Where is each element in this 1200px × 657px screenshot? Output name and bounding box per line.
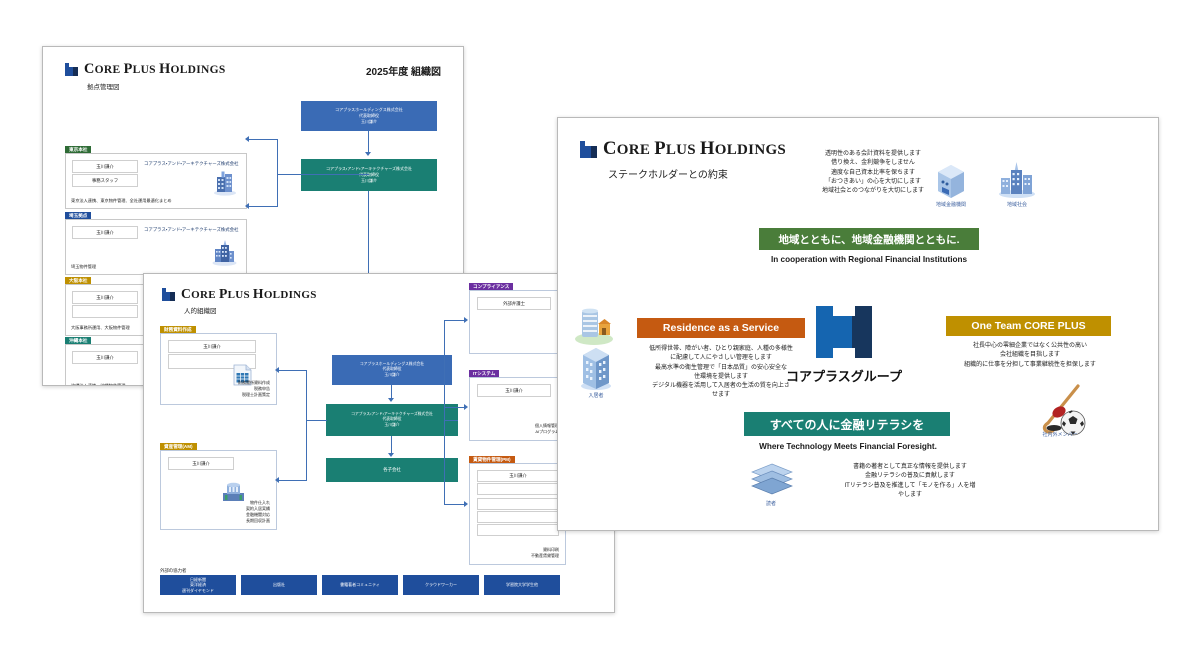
- unit-cell: [477, 511, 559, 523]
- connector-arrow: [464, 404, 468, 410]
- logo-lockup: CORE PLUS HOLDINGS: [580, 138, 786, 160]
- promise-line: せます: [616, 391, 826, 400]
- back-slide-header: CORE PLUS HOLDINGS 拠点管理図: [65, 61, 226, 91]
- partner-label: 出版社: [273, 582, 285, 587]
- unit-box-financial-docs[interactable]: 玉川謙介 財務関係資料作成 税務申告 税理士計画策定: [160, 333, 277, 405]
- mid-slide-header: CORE PLUS HOLDINGS 人的組織図: [162, 286, 317, 315]
- apartment-complex-icon: [572, 305, 616, 347]
- connector-arrow: [388, 398, 394, 402]
- unit-box-property-management[interactable]: 玉川謙介 資料印刷 不動産賃貸管理: [469, 463, 566, 565]
- connector-horizontal: [444, 420, 458, 421]
- cityscape-icon: [996, 160, 1038, 198]
- node-line: 玉川謙介: [361, 178, 377, 184]
- site-cell: 玉川謙介: [72, 226, 138, 239]
- connector-vertical: [444, 320, 445, 420]
- site-footer-note: 東京法人連携、東京物件管理、全社運用最適化まとめ: [71, 198, 172, 204]
- connector-horizontal: [444, 407, 465, 408]
- promise-line: 透明性のある会計資料を提供します: [758, 150, 988, 159]
- partner-label: 日経新聞 東洋経済 週刊ダイヤモンド: [182, 577, 214, 593]
- resident-icon-caption: 入居者: [574, 392, 618, 399]
- node-holdings[interactable]: コアプラスホールディングス株式会社 代表取締役 玉川謙介: [332, 355, 452, 385]
- readers-caption: 読者: [748, 500, 794, 507]
- connector-arrow: [365, 152, 371, 156]
- cityscape-icon-caption: 地域社会: [992, 201, 1042, 208]
- core-plus-logo-icon: [580, 141, 597, 158]
- site-footer-note: 大阪事務所運用、大阪物件管理: [71, 325, 130, 331]
- banner-financial-literacy[interactable]: すべての人に金融リテラシを: [744, 412, 950, 436]
- front-slide-header: CORE PLUS HOLDINGS ステークホルダーとの約束: [580, 138, 786, 181]
- core-plus-logo-icon: [65, 63, 78, 76]
- connector-horizontal: [249, 206, 278, 207]
- external-partners-label: 外部の協力者: [160, 568, 186, 574]
- books-stack-icon: [750, 462, 794, 498]
- unit-notes: 資料印刷 不動産賃貸管理: [531, 547, 559, 559]
- promise-line: 会社組織を目指します: [930, 351, 1130, 360]
- connector-horizontal: [444, 504, 465, 505]
- external-partner-chip[interactable]: 書籍著者コミュニティ: [322, 575, 398, 595]
- slides-stage: CORE PLUS HOLDINGS 拠点管理図 2025年度 組織図 東京本社…: [0, 0, 1200, 657]
- unit-note-line: AIプログラム: [535, 429, 559, 435]
- group-name: コアプラスグループ: [786, 366, 902, 385]
- connector-vertical: [306, 370, 307, 481]
- logo-lockup: CORE PLUS HOLDINGS: [65, 61, 226, 78]
- unit-cell: [477, 524, 559, 536]
- partner-label: 学習院大学学生他: [506, 582, 538, 587]
- external-partners-row: 日経新聞 東洋経済 週刊ダイヤモンド 出版社 書籍著者コミュニティ クラウドワー…: [160, 575, 560, 595]
- unit-cell: 玉川謙介: [477, 470, 559, 482]
- connector-horizontal: [279, 370, 307, 371]
- banner-one-team[interactable]: One Team CORE PLUS: [946, 316, 1111, 336]
- connector-vertical: [391, 385, 392, 399]
- connector-vertical: [277, 174, 278, 207]
- resident-tower-icon: [578, 345, 614, 391]
- unit-notes: 財務関係資料作成 税務申告 税理士計画策定: [238, 380, 270, 398]
- city-building-icon: [211, 239, 238, 266]
- site-corp-name: コアプラス・アンド・アーキテクチャーズ株式会社: [144, 227, 238, 233]
- connector-vertical: [391, 436, 392, 454]
- promise-line: 書籍の著者として真正な情報を提供します: [790, 463, 1030, 472]
- connector-horizontal: [306, 420, 327, 421]
- mid-slide-subtitle: 人的組織図: [184, 305, 317, 315]
- unit-box-compliance[interactable]: 外部弁護士: [469, 290, 566, 354]
- promise-line: 金融リテラシの普及に貢献します: [790, 472, 1030, 481]
- connector-arrow: [464, 317, 468, 323]
- banner-residence-as-a-service[interactable]: Residence as a Service: [637, 318, 805, 338]
- bank-building-icon: [221, 481, 246, 503]
- unit-box-it-system[interactable]: 玉川謙介 個人情報管理 AIプログラム: [469, 377, 566, 441]
- node-line: 玉川謙介: [384, 423, 399, 429]
- promise-line: ITリテラシ普及を推進して「モノを作る」人を増: [790, 482, 1030, 491]
- external-partner-chip[interactable]: クラウドワーカー: [403, 575, 479, 595]
- external-partner-chip[interactable]: 学習院大学学生他: [484, 575, 560, 595]
- team-members-caption: 社内外メンバー: [1022, 431, 1098, 438]
- unit-notes: 物件仕入れ 契約入居実績 金融機関対応 長期回収計画: [246, 500, 270, 524]
- promise-line: に配慮して人にやさしい管理をします: [616, 354, 826, 363]
- connector-arrow: [275, 367, 279, 373]
- external-partner-chip[interactable]: 日経新聞 東洋経済 週刊ダイヤモンド: [160, 575, 236, 595]
- connector-vertical: [277, 139, 278, 175]
- connector-vertical: [368, 131, 369, 153]
- node-holdings[interactable]: コアプラスホールディングス株式会社 代表取締役 玉川謙介: [301, 101, 437, 131]
- connector-horizontal: [444, 320, 465, 321]
- unit-cell: [477, 483, 559, 495]
- logo-wordmark: CORE PLUS HOLDINGS: [84, 61, 226, 78]
- unit-cell: 外部弁護士: [477, 297, 551, 310]
- banner-regional-finance[interactable]: 地域とともに、地域金融機関とともに.: [759, 228, 979, 250]
- connector-horizontal: [277, 174, 369, 175]
- site-cell: 玉川謙介: [72, 160, 138, 173]
- unit-note-line: 不動産賃貸管理: [531, 553, 559, 559]
- node-line: 玉川謙介: [361, 119, 377, 125]
- connector-arrow: [245, 136, 249, 142]
- back-slide-subtitle: 拠点管理図: [87, 81, 226, 91]
- connector-arrow: [464, 501, 468, 507]
- unit-cell: 玉川謙介: [168, 340, 256, 353]
- slide-human-org-chart[interactable]: CORE PLUS HOLDINGS 人的組織図 財務資料作成 玉川謙介 財務関…: [143, 273, 615, 613]
- promise-line: やします: [790, 491, 1030, 500]
- site-cell: 事務スタッフ: [72, 174, 138, 187]
- node-line: 玉川謙介: [384, 373, 399, 379]
- promise-line: 社長中心の零細企業ではなく公共性の高い: [930, 342, 1130, 351]
- core-plus-logo-icon: [162, 288, 175, 301]
- site-cell: 玉川謙介: [72, 351, 138, 364]
- unit-box-asset-management[interactable]: 玉川謙介 物件仕入れ 契約入居実績 金融機関対応 長期回収計画: [160, 450, 277, 530]
- site-footer-note: 沖縄法人連携、沖縄物件管理: [71, 383, 125, 386]
- financial-literacy-text: 書籍の著者として真正な情報を提供します 金融リテラシの普及に貢献します ITリテ…: [790, 463, 1030, 500]
- partner-label: クラウドワーカー: [425, 582, 457, 587]
- connector-horizontal: [249, 139, 278, 140]
- site-cell: [72, 305, 138, 318]
- site-corp-name: コアプラス・アンド・アーキテクチャーズ株式会社: [144, 161, 238, 167]
- unit-note-line: 税理士計画策定: [238, 392, 270, 398]
- connector-arrow: [245, 203, 249, 209]
- node-line: 各子会社: [383, 467, 401, 473]
- bank-icon: [934, 160, 968, 198]
- promise-line: 低所得世帯、障がい者、ひとり親家庭、人種の多様性: [616, 345, 826, 354]
- site-cell: 玉川謙介: [72, 291, 138, 304]
- group-logo-icon: [816, 306, 872, 358]
- english-subtitle-regional-finance: In cooperation with Regional Financial I…: [744, 255, 994, 264]
- one-team-text: 社長中心の零細企業ではなく公共性の高い 会社組織を目指します 組織的に仕事を分担…: [930, 342, 1130, 370]
- unit-cell: [477, 498, 559, 510]
- slide-stakeholder-promise[interactable]: CORE PLUS HOLDINGS ステークホルダーとの約束 透明性のある会計…: [557, 117, 1159, 531]
- site-footer-note: 埼玉物件管理: [71, 264, 96, 270]
- connector-arrow: [275, 477, 279, 483]
- unit-notes: 個人情報管理 AIプログラム: [535, 423, 559, 435]
- unit-cell: 玉川謙介: [168, 457, 234, 470]
- bank-icon-caption: 地域金融機関: [924, 201, 978, 208]
- connector-vertical: [444, 420, 445, 505]
- logo-wordmark: CORE PLUS HOLDINGS: [181, 286, 317, 302]
- partner-label: 書籍著者コミュニティ: [340, 582, 380, 587]
- english-subtitle-financial-literacy: Where Technology Meets Financial Foresig…: [728, 442, 968, 451]
- back-slide-doc-title: 2025年度 組織図: [366, 63, 441, 78]
- node-subsidiaries[interactable]: 各子会社: [326, 458, 458, 482]
- site-box-tokyo[interactable]: 玉川謙介 事務スタッフ コアプラス・アンド・アーキテクチャーズ株式会社 東京法人…: [65, 153, 247, 209]
- sports-team-icon: [1030, 383, 1092, 437]
- node-architectures[interactable]: コアプラス・アンド・アーキテクチャーズ株式会社 代表取締役 玉川謙介: [326, 404, 458, 436]
- office-building-icon: [212, 170, 238, 196]
- connector-arrow: [388, 453, 394, 457]
- site-box-saitama[interactable]: 玉川謙介 コアプラス・アンド・アーキテクチャーズ株式会社 埼玉物件管理: [65, 219, 247, 275]
- unit-note-line: 長期回収計画: [246, 518, 270, 524]
- logo-lockup: CORE PLUS HOLDINGS: [162, 286, 317, 302]
- unit-cell: 玉川謙介: [477, 384, 551, 397]
- connector-horizontal: [279, 480, 307, 481]
- external-partner-chip[interactable]: 出版社: [241, 575, 317, 595]
- promise-line: 組織的に仕事を分担して事業継続性を担保します: [930, 361, 1130, 370]
